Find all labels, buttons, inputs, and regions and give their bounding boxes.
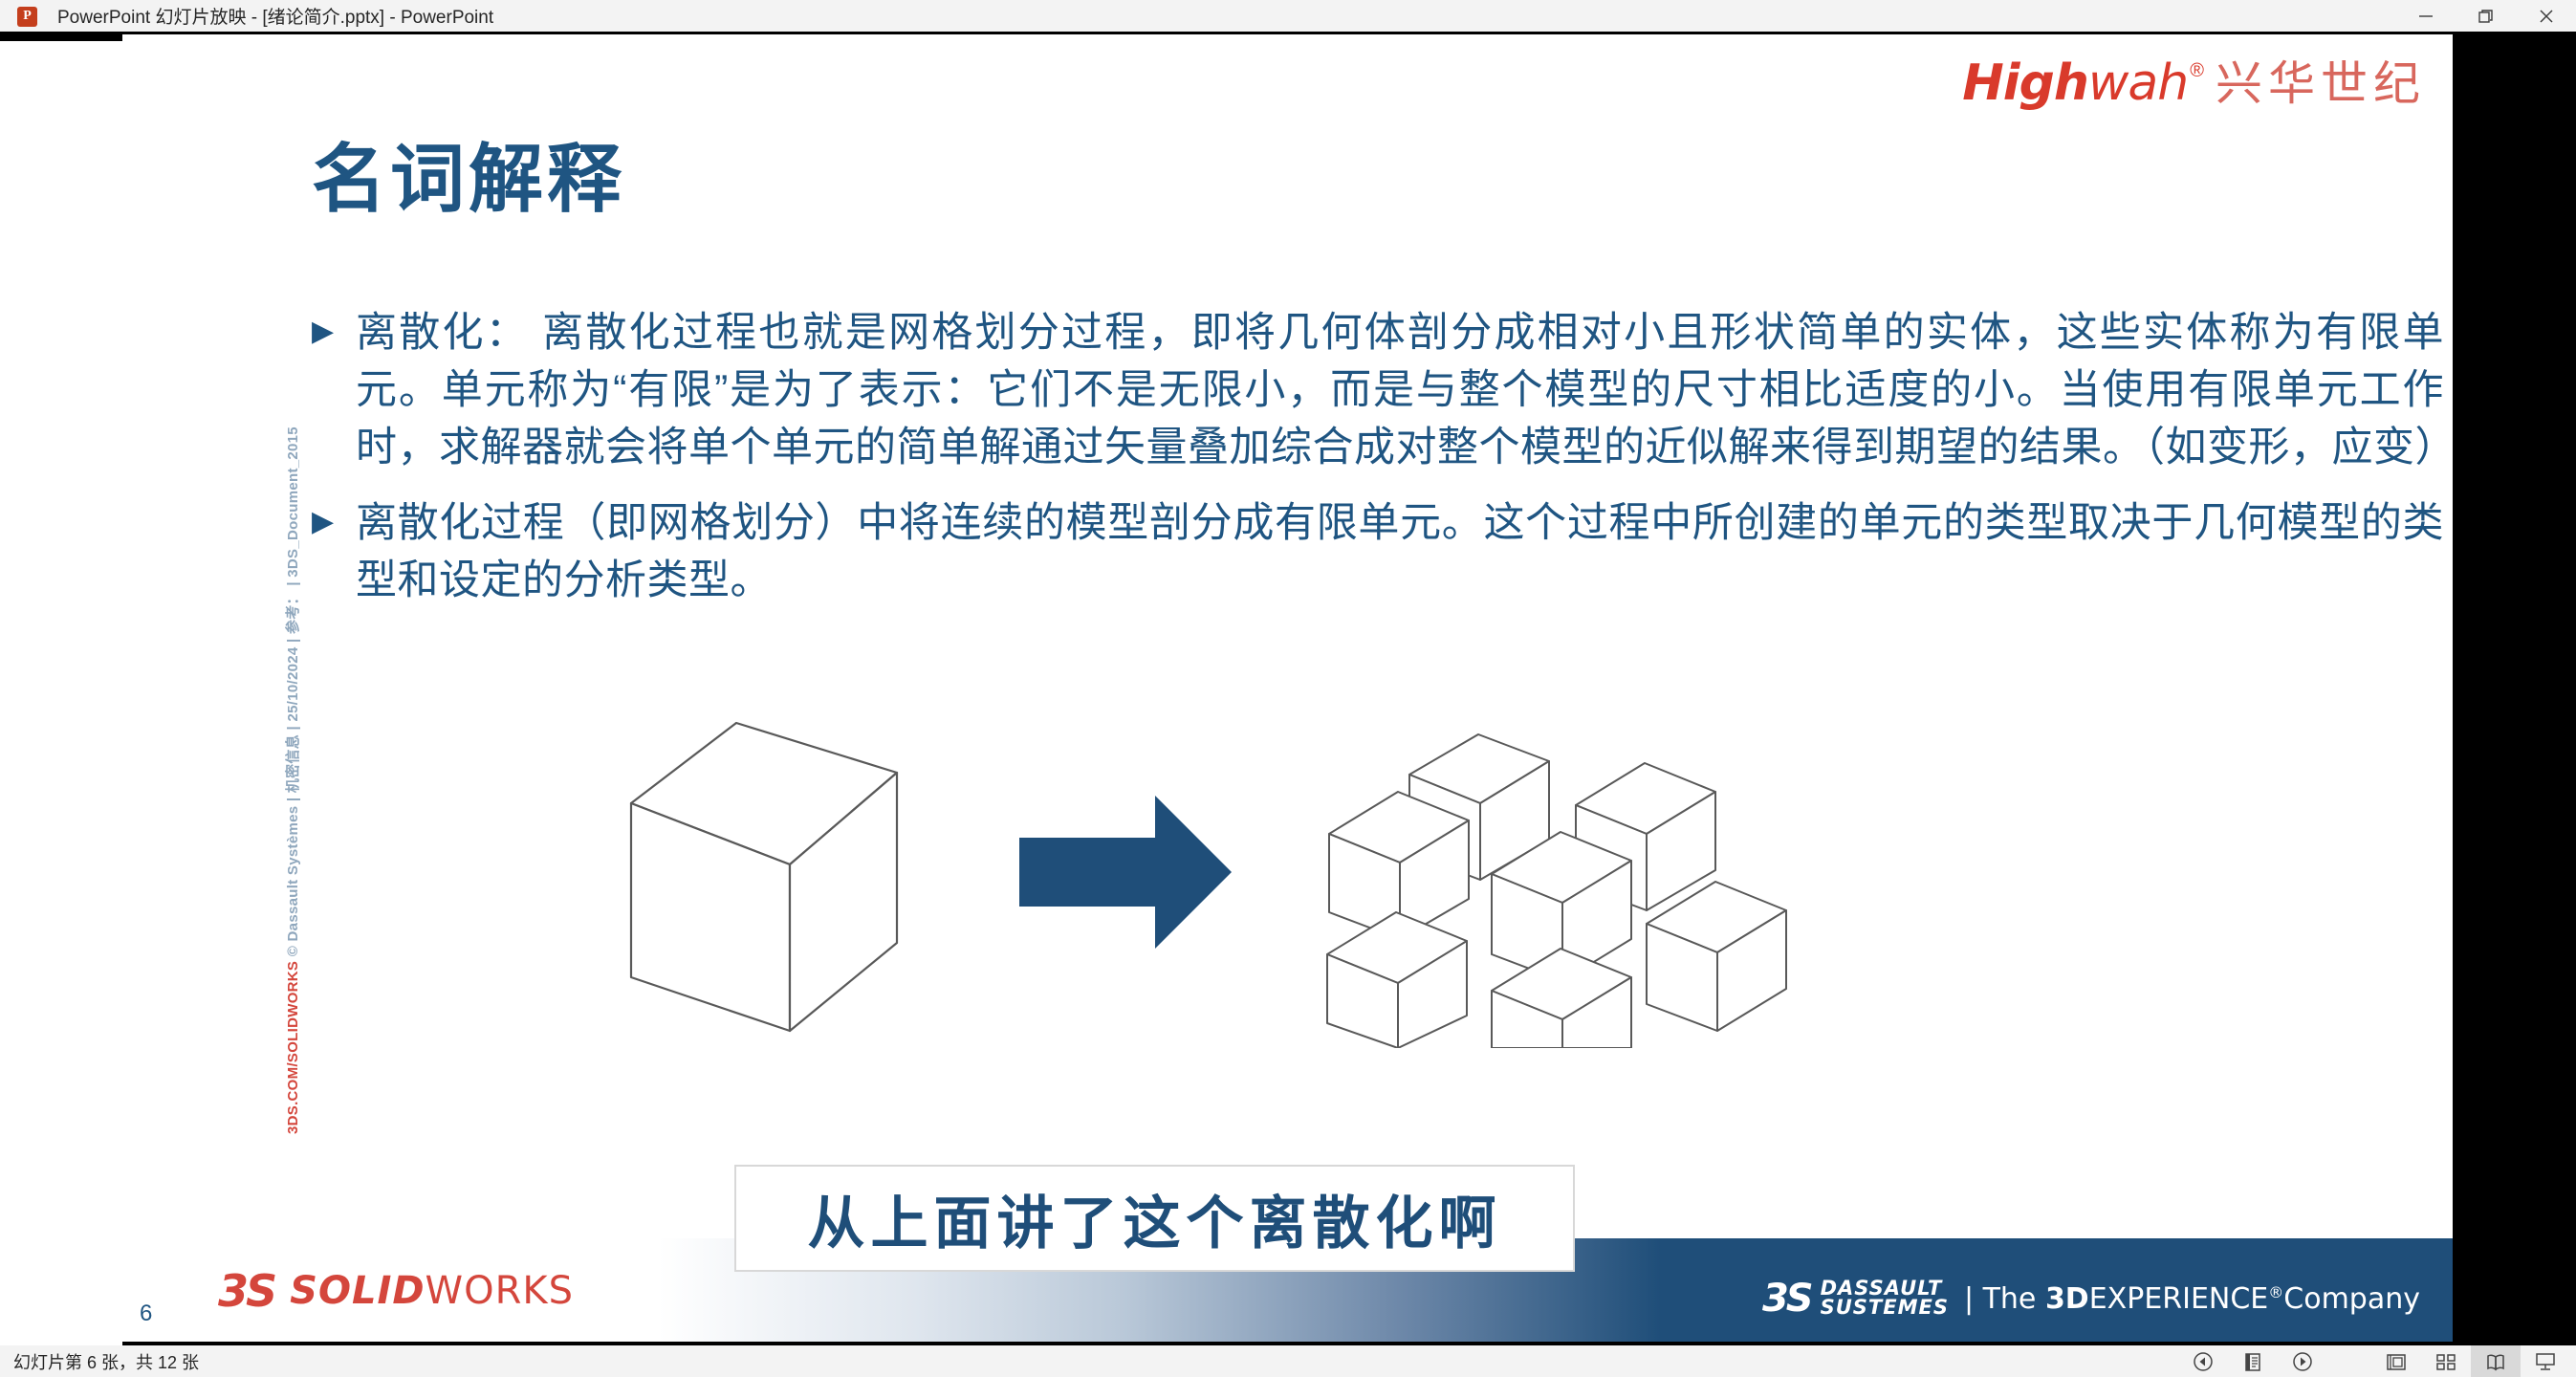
- bullet-text: 离散化： 离散化过程也就是网格划分过程，即将几何体剖分成相对小且形状简单的实体，…: [356, 304, 2444, 477]
- right-arrow-icon: [1019, 796, 1232, 949]
- powerpoint-icon-letter: P: [13, 6, 41, 27]
- window-controls: [2395, 0, 2576, 32]
- vertical-text-blue: © Dassault Systèmes | 机密信息 | 25/10/2024 …: [285, 426, 301, 956]
- close-icon[interactable]: [2516, 0, 2576, 32]
- bullet-item: ▶ 离散化： 离散化过程也就是网格划分过程，即将几何体剖分成相对小且形状简单的实…: [312, 304, 2444, 477]
- vertical-footer-text: 3DS.COM/SOLIDWORKS © Dassault Systèmes |…: [261, 273, 288, 1134]
- exploded-cubes-shape: [1327, 734, 1786, 1048]
- window-title: PowerPoint 幻灯片放映 - [绪论简介.pptx] - PowerPo…: [57, 3, 493, 29]
- bullet-item: ▶ 离散化过程（即网格划分）中将连续的模型剖分成有限单元。这个过程中所创建的单元…: [312, 494, 2444, 609]
- highwah-logo-chinese: 兴华世纪: [2216, 46, 2426, 114]
- slide-counter-label: 幻灯片第 6 张，共 12 张: [13, 1349, 199, 1374]
- slide-canvas[interactable]: Highwah ® 兴华世纪 名词解释 3DS.COM/SOLIDWORKS ©…: [122, 34, 2453, 1342]
- bullet-marker-icon: ▶: [312, 304, 356, 346]
- caption-overlay: 从上面讲了这个离散化啊: [734, 1165, 1575, 1272]
- powerpoint-icon: P: [13, 2, 42, 31]
- statusbar-controls: [2178, 1345, 2570, 1377]
- dassault-logo-text: DASSAULTSUSTEMES: [1821, 1279, 1949, 1318]
- solidworks-mark-icon: 3S: [218, 1265, 274, 1317]
- registered-mark-icon: ®: [2190, 60, 2204, 82]
- bullet-text: 离散化过程（即网格划分）中将连续的模型剖分成有限单元。这个过程中所创建的单元的类…: [356, 494, 2444, 609]
- highwah-logo: Highwah ® 兴华世纪: [1962, 46, 2426, 114]
- notes-button[interactable]: [2228, 1345, 2278, 1377]
- statusbar: 幻灯片第 6 张，共 12 张: [0, 1345, 2576, 1377]
- slideshow-button[interactable]: [2521, 1345, 2570, 1377]
- left-margin-strip: [0, 32, 122, 1345]
- slide-title: 名词解释: [312, 142, 625, 216]
- discretization-diagram: [620, 704, 1958, 1048]
- dassault-systemes-footer: 3S DASSAULTSUSTEMES | The 3DEXPERIENCE®C…: [1762, 1277, 2420, 1321]
- solid-cube-shape: [631, 723, 897, 1031]
- slide-sorter-button[interactable]: [2421, 1345, 2471, 1377]
- normal-view-button[interactable]: [2371, 1345, 2421, 1377]
- caption-text: 从上面讲了这个离散化啊: [808, 1177, 1502, 1260]
- vertical-text-red: 3DS.COM/SOLIDWORKS: [285, 961, 301, 1134]
- bullet-marker-icon: ▶: [312, 494, 356, 536]
- left-margin-strip-top: [0, 32, 122, 41]
- dassault-mark-icon: 3S: [1762, 1277, 1811, 1321]
- solidworks-logo: 3S SOLIDWORKS: [218, 1265, 574, 1317]
- slide-number: 6: [140, 1300, 152, 1327]
- slide-body: ▶ 离散化： 离散化过程也就是网格划分过程，即将几何体剖分成相对小且形状简单的实…: [312, 304, 2444, 626]
- window-titlebar: P PowerPoint 幻灯片放映 - [绪论简介.pptx] - Power…: [0, 0, 2576, 32]
- highwah-logo-text: Highwah: [1962, 55, 2188, 112]
- previous-slide-button[interactable]: [2178, 1345, 2228, 1377]
- minimize-icon[interactable]: [2395, 0, 2456, 32]
- dassault-tagline: | The 3DEXPERIENCE®Company: [1964, 1282, 2420, 1316]
- solidworks-logo-text: SOLIDWORKS: [290, 1269, 574, 1313]
- restore-icon[interactable]: [2456, 0, 2516, 32]
- next-slide-button[interactable]: [2278, 1345, 2327, 1377]
- reading-view-button[interactable]: [2471, 1345, 2521, 1377]
